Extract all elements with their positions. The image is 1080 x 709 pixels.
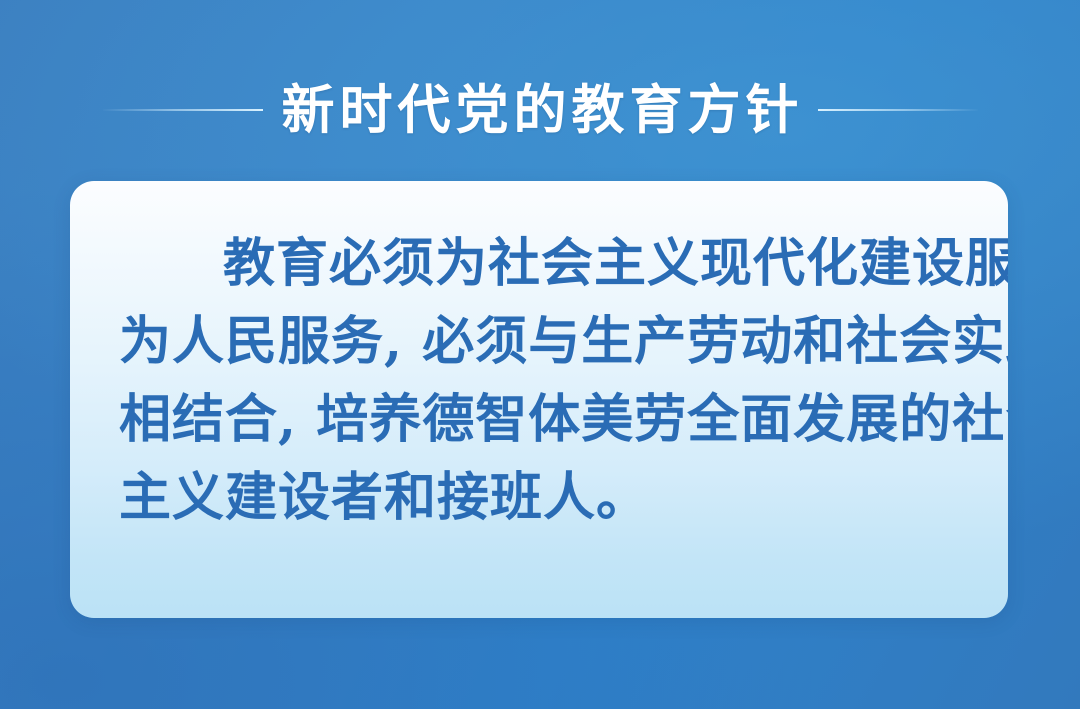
page-title: 新时代党的教育方针 [277,84,804,137]
quote-line-1: 教育必须为社会主义现代化建设服务、 [119,225,967,303]
quote-line-2: 为人民服务, 必须与生产劳动和社会实践 [119,303,967,381]
quote-line-4: 主义建设者和接班人。 [119,459,967,537]
title-rule-left-decoration [103,109,263,111]
quote-line-3: 相结合, 培养德智体美劳全面发展的社会 [119,381,967,459]
title-band: 新时代党的教育方针 [0,74,1080,146]
title-rule-right-decoration [818,109,978,111]
quote-card: 教育必须为社会主义现代化建设服务、 为人民服务, 必须与生产劳动和社会实践 相结… [70,181,1008,618]
poster-canvas: 新时代党的教育方针 教育必须为社会主义现代化建设服务、 为人民服务, 必须与生产… [0,0,1080,709]
quote-text-block: 教育必须为社会主义现代化建设服务、 为人民服务, 必须与生产劳动和社会实践 相结… [119,225,967,537]
